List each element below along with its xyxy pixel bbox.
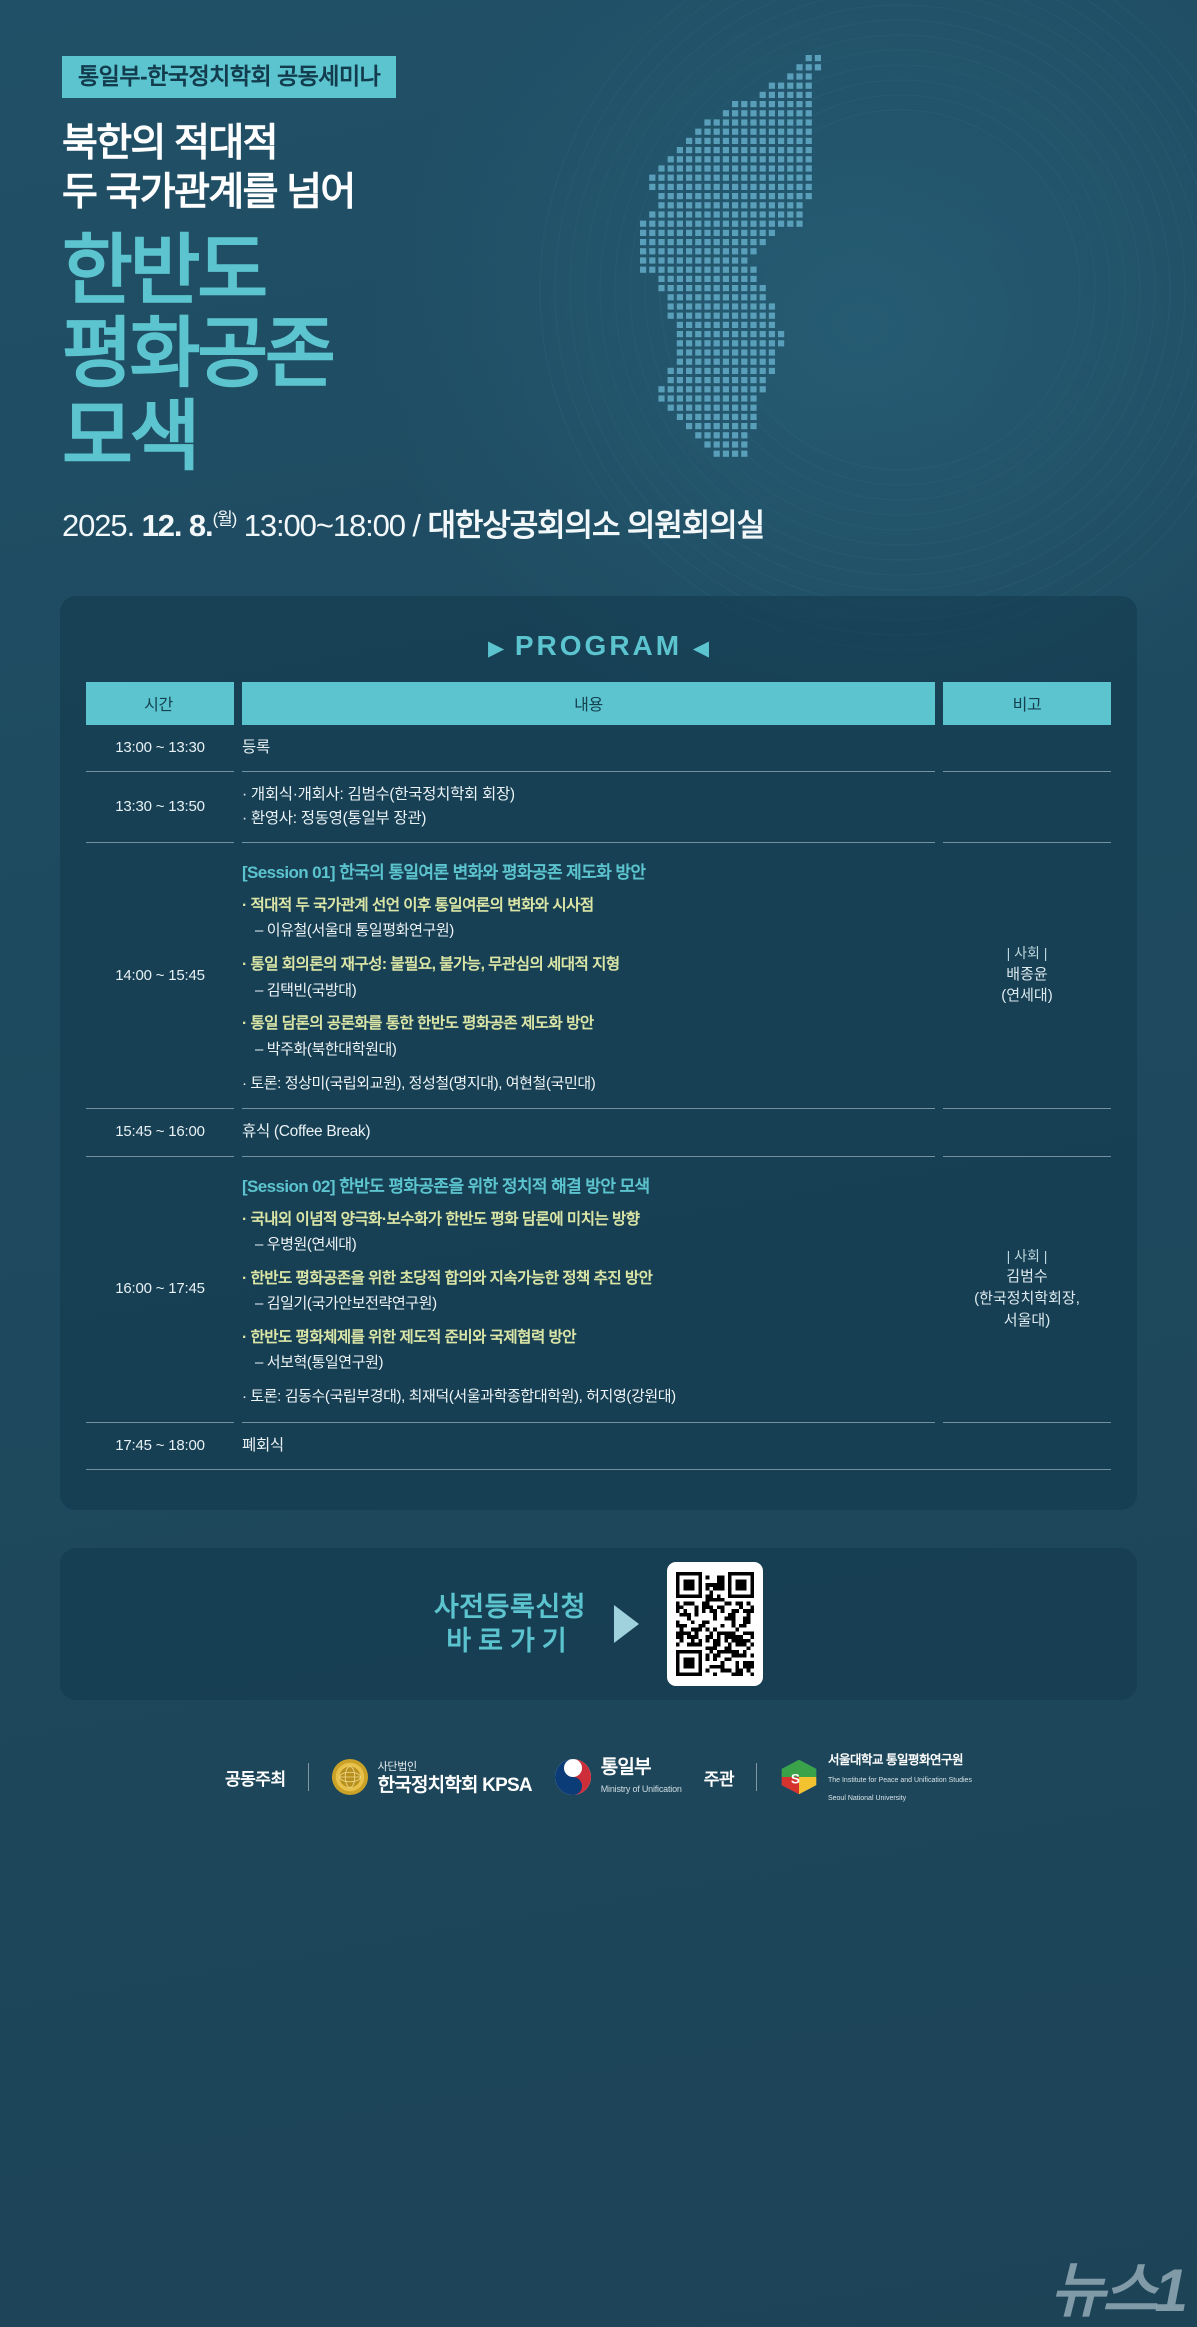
ips-snu-logo: S 서울대학교 통일평화연구원 The Institute for Peace … xyxy=(779,1749,972,1805)
moderator-label: | 사회 | xyxy=(943,1246,1111,1266)
session-item-presenter: – 서보혁(통일연구원) xyxy=(242,1352,935,1374)
subtitle-line-2: 두 국가관계를 넘어 xyxy=(62,169,1197,218)
row-spacer xyxy=(234,1109,242,1156)
date-time-range: 13:00~18:00 / xyxy=(236,508,427,543)
row-spacer xyxy=(935,772,943,843)
program-heading: ▶ PROGRAM ◀ xyxy=(86,624,1111,682)
row-content: 폐회식 xyxy=(242,1422,935,1469)
session-item: · 통일 회의론의 재구성: 불필요, 불가능, 무관심의 세대적 지형– 김택… xyxy=(242,954,935,1001)
row-text-line: · 환영사: 정동영(통일부 장관) xyxy=(242,807,935,830)
kpsa-logo: 사단법인 한국정치학회 KPSA xyxy=(331,1757,532,1797)
row-spacer xyxy=(935,842,943,1108)
moderator-name: 배종윤 xyxy=(943,964,1111,986)
title-line-3: 모색 xyxy=(62,396,1197,479)
ips-name-en1: The Institute for Peace and Unification … xyxy=(828,1777,972,1784)
row-spacer xyxy=(234,772,242,843)
session-item-presenter: – 박주화(북한대학원대) xyxy=(242,1039,935,1061)
row-note: | 사회 |김범수(한국정치학회장,서울대) xyxy=(943,1156,1111,1422)
row-text: 폐회식 xyxy=(242,1434,935,1457)
ips-hexagon-icon: S xyxy=(779,1758,819,1796)
poster-main-title: 한반도 평화공존 모색 xyxy=(62,230,1197,479)
pre-registration-card[interactable]: 사전등록신청 바로가기 xyxy=(60,1548,1137,1700)
program-card: ▶ PROGRAM ◀ 시간 내용 비고 13:00 ~ 13:30등록13:3… xyxy=(60,596,1137,1510)
session-item-topic: · 적대적 두 국가관계 선언 이후 통일여론의 변화와 시사점 xyxy=(242,897,594,914)
session-item: · 한반도 평화공존을 위한 초당적 합의와 지속가능한 정책 추진 방안– 김… xyxy=(242,1268,935,1315)
table-row: 15:45 ~ 16:00휴식 (Coffee Break) xyxy=(86,1109,1111,1156)
arrow-right-icon xyxy=(614,1605,639,1643)
session-item-topic: · 한반도 평화공존을 위한 초당적 합의와 지속가능한 정책 추진 방안 xyxy=(242,1270,652,1287)
qr-code-icon xyxy=(676,1572,754,1676)
table-row: 16:00 ~ 17:45[Session 02] 한반도 평화공존을 위한 정… xyxy=(86,1156,1111,1422)
program-table-head: 시간 내용 비고 xyxy=(86,682,1111,725)
row-note xyxy=(943,1109,1111,1156)
moderator-affiliation-2: 서울대) xyxy=(943,1310,1111,1332)
pre-registration-text: 사전등록신청 바로가기 xyxy=(434,1590,586,1659)
date-venue-line: 2025. 12. 8.(월) 13:00~18:00 / 대한상공회의소 의원… xyxy=(62,507,1197,544)
organizer-label: 주관 xyxy=(704,1765,734,1790)
svg-text:S: S xyxy=(791,1772,800,1787)
table-row: 14:00 ~ 15:45[Session 01] 한국의 통일여론 변화와 평… xyxy=(86,842,1111,1108)
session-heading: [Session 02] 한반도 평화공존을 위한 정치적 해결 방안 모색 xyxy=(242,1172,935,1197)
row-content: · 개회식·개회사: 김범수(한국정치학회 회장)· 환영사: 정동영(통일부 … xyxy=(242,772,935,843)
session-discussants-text: · 토론: 김동수(국립부경대), 최재덕(서울과학종합대학원), 허지영(강원… xyxy=(242,1388,676,1405)
row-note: | 사회 |배종윤(연세대) xyxy=(943,842,1111,1108)
row-content: 등록 xyxy=(242,725,935,772)
footer-divider-2 xyxy=(756,1763,757,1791)
title-line-2: 평화공존 xyxy=(62,313,1197,396)
row-time: 17:45 ~ 18:00 xyxy=(86,1422,234,1469)
session-discussants-text: · 토론: 정상미(국립외교원), 정성철(명지대), 여현철(국민대) xyxy=(242,1075,595,1092)
row-note xyxy=(943,1422,1111,1469)
register-line-1: 사전등록신청 xyxy=(434,1590,586,1625)
moderator-label: | 사회 | xyxy=(943,943,1111,963)
row-content: [Session 01] 한국의 통일여론 변화와 평화공존 제도화 방안· 적… xyxy=(242,842,935,1108)
row-note xyxy=(943,772,1111,843)
session-item-presenter: – 우병원(연세대) xyxy=(242,1234,935,1256)
date-year: 2025. xyxy=(62,508,142,543)
col-header-content: 내용 xyxy=(242,682,935,725)
row-spacer xyxy=(935,1422,943,1469)
row-note xyxy=(943,725,1111,772)
session-item: · 통일 담론의 공론화를 통한 한반도 평화공존 제도화 방안– 박주화(북한… xyxy=(242,1013,935,1060)
program-table: 시간 내용 비고 13:00 ~ 13:30등록13:30 ~ 13:50· 개… xyxy=(86,682,1111,1470)
row-time: 13:00 ~ 13:30 xyxy=(86,725,234,772)
program-table-body: 13:00 ~ 13:30등록13:30 ~ 13:50· 개회식·개회사: 김… xyxy=(86,725,1111,1470)
qr-code[interactable] xyxy=(667,1562,763,1686)
poster-footer: 공동주최 사단법인 한국정치학회 KPSA 통일부 Ministry of Un… xyxy=(0,1734,1197,1820)
col-header-note: 비고 xyxy=(943,682,1111,725)
session-discussants: · 토론: 김동수(국립부경대), 최재덕(서울과학종합대학원), 허지영(강원… xyxy=(242,1386,935,1408)
row-spacer xyxy=(234,1422,242,1469)
session-item-topic: · 통일 회의론의 재구성: 불필요, 불가능, 무관심의 세대적 지형 xyxy=(242,956,620,973)
kpsa-emblem-icon xyxy=(331,1758,369,1796)
row-time: 14:00 ~ 15:45 xyxy=(86,842,234,1108)
venue-name: 대한상공회의소 의원회의실 xyxy=(427,508,764,543)
table-row: 13:00 ~ 13:30등록 xyxy=(86,725,1111,772)
row-content: [Session 02] 한반도 평화공존을 위한 정치적 해결 방안 모색· … xyxy=(242,1156,935,1422)
session-item-topic: · 한반도 평화체제를 위한 제도적 준비와 국제협력 방안 xyxy=(242,1329,576,1346)
row-spacer xyxy=(234,1156,242,1422)
ips-name: 서울대학교 통일평화연구원 xyxy=(828,1753,963,1767)
date-month: 12. xyxy=(142,508,182,543)
col-spacer-1 xyxy=(234,682,242,725)
kpsa-name: 한국정치학회 KPSA xyxy=(378,1775,532,1796)
session-item-presenter: – 김일기(국가안보전략연구원) xyxy=(242,1293,935,1315)
table-row: 13:30 ~ 13:50· 개회식·개회사: 김범수(한국정치학회 회장)· … xyxy=(86,772,1111,843)
poster-header: 통일부-한국정치학회 공동세미나 북한의 적대적 두 국가관계를 넘어 한반도 … xyxy=(0,0,1197,544)
moderator-affiliation: (한국정치학회장, xyxy=(943,1288,1111,1310)
date-day: 8. xyxy=(181,508,212,543)
row-spacer xyxy=(234,842,242,1108)
title-line-1: 한반도 xyxy=(62,230,1197,313)
table-row: 17:45 ~ 18:00폐회식 xyxy=(86,1422,1111,1469)
date-weekday: (월) xyxy=(213,510,237,529)
mou-logo: 통일부 Ministry of Unification xyxy=(554,1757,682,1797)
session-item-topic: · 국내외 이념적 양극화·보수화가 한반도 평화 담론에 미치는 방향 xyxy=(242,1211,640,1228)
row-content: 휴식 (Coffee Break) xyxy=(242,1109,935,1156)
session-item-presenter: – 김택빈(국방대) xyxy=(242,980,935,1002)
program-heading-label: PROGRAM xyxy=(515,630,682,661)
mou-name-en: Ministry of Unification xyxy=(601,1784,682,1794)
moderator-name: 김범수 xyxy=(943,1266,1111,1288)
taegeuk-icon xyxy=(554,1758,592,1796)
triangle-right-icon: ▶ xyxy=(488,637,504,660)
seminar-badge: 통일부-한국정치학회 공동세미나 xyxy=(62,56,396,98)
session-item: · 한반도 평화체제를 위한 제도적 준비와 국제협력 방안– 서보혁(통일연구… xyxy=(242,1327,935,1374)
row-spacer xyxy=(935,1156,943,1422)
row-text: 휴식 (Coffee Break) xyxy=(242,1120,935,1143)
footer-divider-1 xyxy=(308,1763,309,1791)
session-item: · 적대적 두 국가관계 선언 이후 통일여론의 변화와 시사점– 이유철(서울… xyxy=(242,895,935,942)
row-spacer xyxy=(935,1109,943,1156)
row-spacer xyxy=(234,725,242,772)
col-header-time: 시간 xyxy=(86,682,234,725)
row-time: 15:45 ~ 16:00 xyxy=(86,1109,234,1156)
session-item-topic: · 통일 담론의 공론화를 통한 한반도 평화공존 제도화 방안 xyxy=(242,1015,594,1032)
row-time: 13:30 ~ 13:50 xyxy=(86,772,234,843)
poster-subtitle: 북한의 적대적 두 국가관계를 넘어 xyxy=(62,120,1197,218)
news1-watermark: 뉴스1 xyxy=(1050,2261,1185,2321)
row-time: 16:00 ~ 17:45 xyxy=(86,1156,234,1422)
row-text: 등록 xyxy=(242,736,935,759)
register-line-2: 바로가기 xyxy=(434,1624,586,1659)
kpsa-subtitle: 사단법인 xyxy=(378,1761,417,1773)
subtitle-line-1: 북한의 적대적 xyxy=(62,120,1197,169)
moderator-affiliation: (연세대) xyxy=(943,985,1111,1007)
triangle-left-icon: ◀ xyxy=(693,637,709,660)
session-item-presenter: – 이유철(서울대 통일평화연구원) xyxy=(242,920,935,942)
row-spacer xyxy=(935,725,943,772)
row-text-line: · 개회식·개회사: 김범수(한국정치학회 회장) xyxy=(242,783,935,806)
mou-name: 통일부 xyxy=(601,1757,651,1778)
session-heading: [Session 01] 한국의 통일여론 변화와 평화공존 제도화 방안 xyxy=(242,858,935,883)
session-discussants: · 토론: 정상미(국립외교원), 정성철(명지대), 여현철(국민대) xyxy=(242,1073,935,1095)
col-spacer-2 xyxy=(935,682,943,725)
cohost-label: 공동주최 xyxy=(225,1765,286,1790)
session-item: · 국내외 이념적 양극화·보수화가 한반도 평화 담론에 미치는 방향– 우병… xyxy=(242,1209,935,1256)
ips-name-en2: Seoul National University xyxy=(828,1795,906,1802)
